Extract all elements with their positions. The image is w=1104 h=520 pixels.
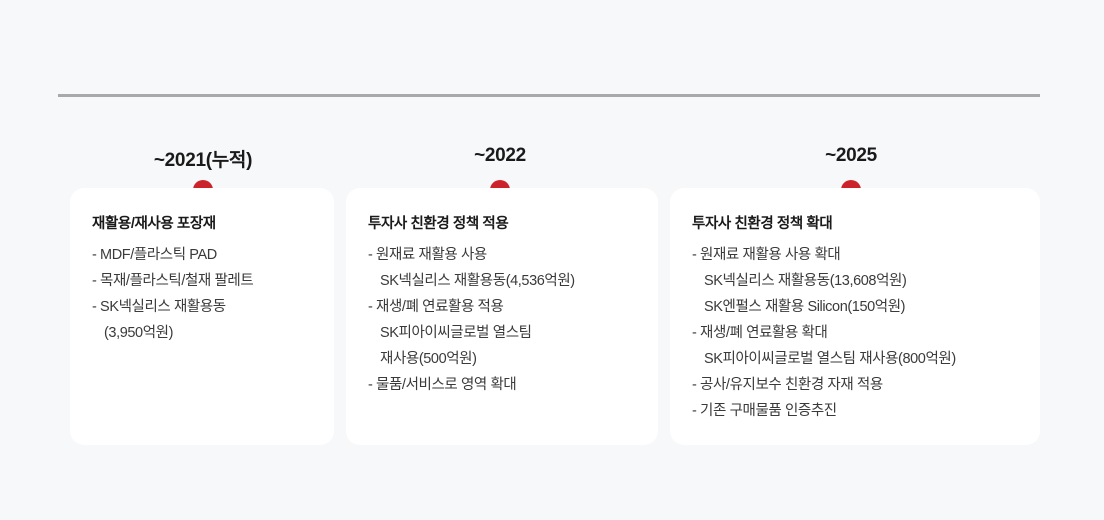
card-list-item: - SK넥실리스 재활용동 <box>92 294 312 320</box>
card-list-item: SK엔펄스 재활용 Silicon(150억원) <box>692 294 1018 320</box>
card-list-2: - 원재료 재활용 사용 확대SK넥실리스 재활용동(13,608억원)SK엔펄… <box>692 242 1018 424</box>
card-list-item: - MDF/플라스틱 PAD <box>92 242 312 268</box>
card-list-item: - 공사/유지보수 친환경 자재 적용 <box>692 372 1018 398</box>
card-list-item: - 재생/폐 연료활용 적용 <box>368 294 636 320</box>
card-heading-0: 재활용/재사용 포장재 <box>92 212 312 233</box>
card-list-item: - 기존 구매물품 인증추진 <box>692 398 1018 424</box>
card-list-item: - 물품/서비스로 영역 확대 <box>368 372 636 398</box>
detail-card-1: 투자사 친환경 정책 적용 - 원재료 재활용 사용SK넥실리스 재활용동(4,… <box>346 188 658 445</box>
detail-card-0: 재활용/재사용 포장재 - MDF/플라스틱 PAD- 목재/플라스틱/철재 팔… <box>70 188 334 445</box>
card-heading-2: 투자사 친환경 정책 확대 <box>692 212 1018 233</box>
card-list-item: SK피아이씨글로벌 열스팀 <box>368 320 636 346</box>
card-list-item: 재사용(500억원) <box>368 346 636 372</box>
card-list-item: - 목재/플라스틱/철재 팔레트 <box>92 268 312 294</box>
card-heading-1: 투자사 친환경 정책 적용 <box>368 212 636 233</box>
card-list-item: - 원재료 재활용 사용 <box>368 242 636 268</box>
card-list-item: - 재생/폐 연료활용 확대 <box>692 320 1018 346</box>
card-list-item: SK피아이씨글로벌 열스팀 재사용(800억원) <box>692 346 1018 372</box>
timeline-axis: ~2021(누적) 5,935억원 ~2022 10,474억원 ~2025 2… <box>58 94 1040 97</box>
detail-card-2: 투자사 친환경 정책 확대 - 원재료 재활용 사용 확대SK넥실리스 재활용동… <box>670 188 1040 445</box>
card-list-item: - 원재료 재활용 사용 확대 <box>692 242 1018 268</box>
milestone-year-label-0: ~2021(누적) <box>73 145 333 172</box>
milestone-year-label-1: ~2022 <box>370 145 630 167</box>
card-list-item: SK넥실리스 재활용동(4,536억원) <box>368 268 636 294</box>
card-list-item: (3,950억원) <box>92 320 312 346</box>
card-list-item: SK넥실리스 재활용동(13,608억원) <box>692 268 1018 294</box>
card-list-1: - 원재료 재활용 사용SK넥실리스 재활용동(4,536억원)- 재생/폐 연… <box>368 242 636 398</box>
card-list-0: - MDF/플라스틱 PAD- 목재/플라스틱/철재 팔레트- SK넥실리스 재… <box>92 242 312 346</box>
milestone-year-label-2: ~2025 <box>721 145 981 167</box>
